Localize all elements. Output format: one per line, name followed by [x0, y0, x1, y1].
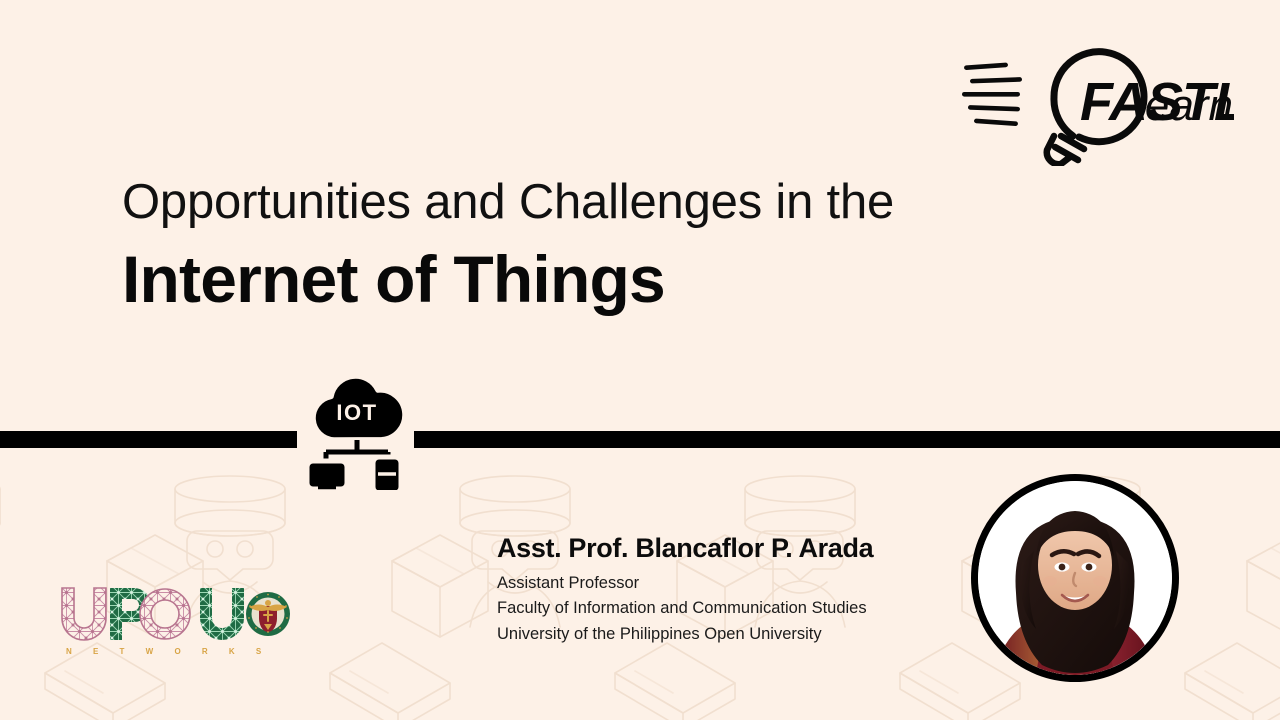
- speaker-info: Asst. Prof. Blancaflor P. Arada Assistan…: [497, 532, 977, 647]
- speaker-institution: University of the Philippines Open Unive…: [497, 622, 977, 647]
- speaker-faculty: Faculty of Information and Communication…: [497, 596, 977, 621]
- speaker-role: Assistant Professor: [497, 571, 977, 596]
- upou-networks-logo: N E T W O R K S: [60, 586, 292, 658]
- upou-networks-subtitle: N E T W O R K S: [66, 647, 271, 656]
- speaker-portrait: [971, 474, 1179, 682]
- fastlearn-logo-light-text: earn: [1145, 81, 1233, 130]
- iot-badge-label: IOT: [336, 400, 377, 425]
- speaker-affiliation: Assistant Professor Faculty of Informati…: [497, 571, 977, 646]
- presentation-slide: FASTL earn Opportunities and Challenges …: [0, 0, 1280, 720]
- title-line-1: Opportunities and Challenges in the: [122, 176, 1102, 229]
- title-line-2: Internet of Things: [122, 241, 1102, 318]
- upou-letter-u1: [60, 586, 112, 646]
- upou-letter-u2: [196, 586, 248, 646]
- fastlearn-logo: FASTL earn: [962, 28, 1234, 166]
- divider-rule-right: [414, 431, 1280, 448]
- slide-title: Opportunities and Challenges in the Inte…: [122, 176, 1102, 317]
- iot-cloud-network-icon: IOT: [293, 362, 421, 490]
- divider-rule-left: [0, 431, 297, 448]
- up-seal-icon: [246, 592, 290, 636]
- speaker-name: Asst. Prof. Blancaflor P. Arada: [497, 532, 977, 564]
